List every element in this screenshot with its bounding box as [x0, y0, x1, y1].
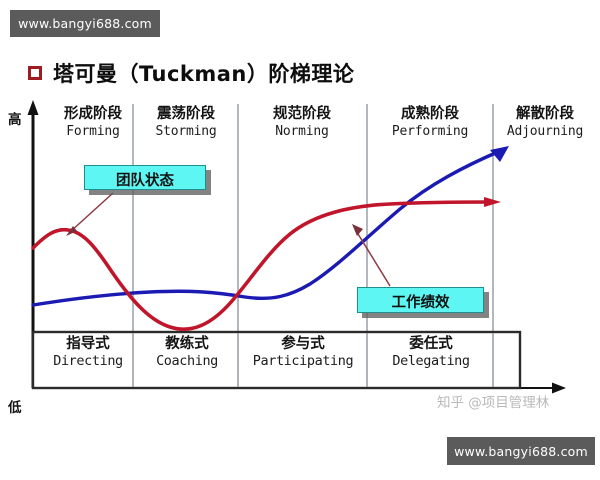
stage-label-cn: 规范阶段 [262, 106, 342, 124]
style-cell-delegating: 委任式 Delegating [372, 336, 490, 370]
stage-label-cn: 解散阶段 [495, 106, 595, 124]
watermark-bottom: www.bangyi688.com [447, 437, 595, 465]
style-cell-participating: 参与式 Participating [243, 336, 363, 370]
style-label-en: Coaching [146, 353, 228, 369]
tuckman-chart: 形成阶段 Forming 震荡阶段 Storming 规范阶段 Norming … [0, 96, 600, 406]
style-label-cn: 委任式 [372, 336, 490, 353]
author-credit: 知乎 @项目管理林 [437, 391, 549, 411]
stage-label-en: Performing [380, 124, 480, 140]
stage-header-adjourning: 解散阶段 Adjourning [495, 106, 595, 140]
style-cell-directing: 指导式 Directing [43, 336, 133, 370]
stage-label-en: Norming [262, 124, 342, 140]
callout-leader-team-status [66, 193, 113, 236]
stage-label-cn: 形成阶段 [53, 106, 133, 124]
stage-header-storming: 震荡阶段 Storming [146, 106, 226, 140]
title-bullet-icon [28, 66, 42, 80]
callout-work-performance: 工作绩效 [357, 287, 484, 313]
stage-header-forming: 形成阶段 Forming [53, 106, 133, 140]
stage-label-en: Adjourning [495, 124, 595, 140]
stage-label-en: Forming [53, 124, 133, 140]
style-label-en: Delegating [372, 353, 490, 369]
style-label-en: Participating [243, 353, 363, 369]
stage-header-norming: 规范阶段 Norming [262, 106, 342, 140]
axis-label-high: 高 [8, 108, 22, 128]
callout-team-status: 团队状态 [84, 165, 206, 190]
stage-label-en: Storming [146, 124, 226, 140]
style-cell-coaching: 教练式 Coaching [146, 336, 228, 370]
watermark-top: www.bangyi688.com [10, 10, 160, 37]
page-title: 塔可曼（Tuckman）阶梯理论 [28, 58, 354, 88]
stage-header-performing: 成熟阶段 Performing [380, 106, 480, 140]
style-label-cn: 教练式 [146, 336, 228, 353]
style-label-en: Directing [43, 353, 133, 369]
style-label-cn: 参与式 [243, 336, 363, 353]
stage-label-cn: 震荡阶段 [146, 106, 226, 124]
title-text: 塔可曼（Tuckman）阶梯理论 [53, 58, 354, 88]
axis-label-low: 低 [8, 396, 22, 416]
style-label-cn: 指导式 [43, 336, 133, 353]
stage-label-cn: 成熟阶段 [380, 106, 480, 124]
